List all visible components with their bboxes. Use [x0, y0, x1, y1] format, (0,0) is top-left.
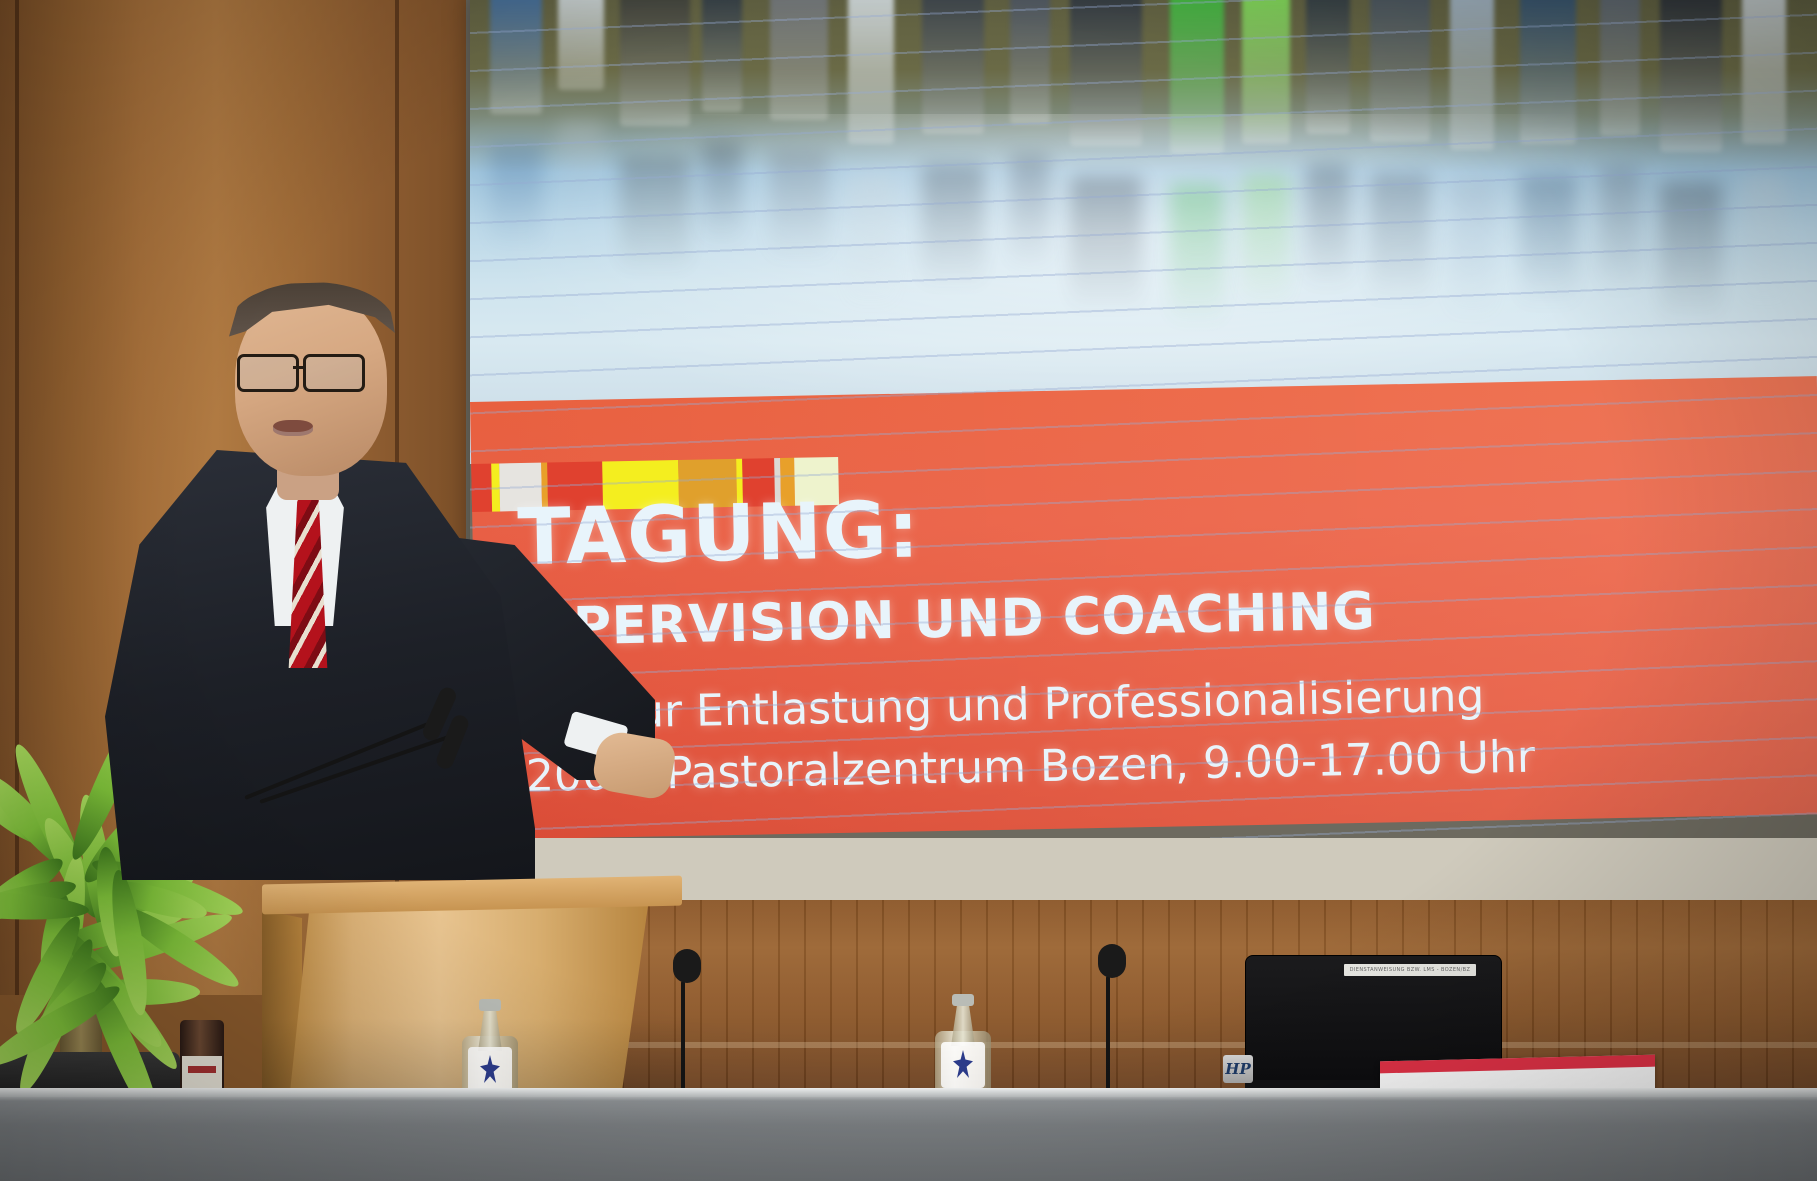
- photo-leg: [558, 0, 604, 90]
- slide-line-1: ge zur Entlastung und Professionalisieru…: [544, 671, 1485, 740]
- lectern-microphone-boom-2: [260, 740, 490, 860]
- photo-leg: [1070, 0, 1142, 146]
- table-gooseneck-microphone: [1090, 950, 1130, 1100]
- bottle-label-mark: [480, 1055, 500, 1083]
- bottle-cap: [479, 999, 501, 1011]
- table-gooseneck-microphone: [665, 955, 705, 1105]
- photo-leg: [702, 0, 742, 112]
- lens-right: [303, 354, 365, 392]
- speaker-mouth: [273, 420, 313, 436]
- photo-leg: [1660, 0, 1722, 152]
- bottle-label: [941, 1042, 985, 1088]
- desk-edge: [0, 1088, 1817, 1097]
- photo-leg: [1520, 0, 1576, 144]
- photo-leg: [490, 0, 542, 114]
- photo-leg: [1170, 0, 1224, 154]
- photo-leg: [620, 0, 690, 126]
- photo-scene: TAGUNG: SUPERVISION UND COACHING ge zur …: [0, 0, 1817, 1181]
- bottle-neck: [951, 1000, 975, 1046]
- laptop-lid-label: DIENSTANWEISUNG BZW. LMS - BOZEN/BZ: [1344, 964, 1476, 976]
- photo-leg: [1742, 0, 1786, 144]
- eyeglasses-icon: [237, 354, 387, 388]
- microphone-capsule: [1098, 944, 1126, 978]
- photo-leg: [1450, 0, 1494, 150]
- photo-leg: [1600, 0, 1640, 136]
- glasses-bridge: [293, 366, 305, 369]
- label-stripe: [188, 1066, 216, 1073]
- photo-leg: [848, 0, 894, 144]
- bottle-label-mark: [953, 1050, 973, 1078]
- photo-leg: [1242, 0, 1290, 144]
- bottle-label: [468, 1047, 512, 1093]
- photo-leg: [1306, 0, 1350, 134]
- bottle-neck: [478, 1005, 502, 1051]
- photo-leg: [1010, 0, 1050, 124]
- bottle-cap: [952, 994, 974, 1006]
- speaker-hand: [590, 729, 677, 802]
- photo-leg: [770, 0, 828, 120]
- lens-left: [237, 354, 299, 392]
- conference-desk: [0, 1088, 1817, 1181]
- photo-leg: [1370, 0, 1430, 142]
- projection-screen: TAGUNG: SUPERVISION UND COACHING ge zur …: [470, 0, 1817, 840]
- photo-leg: [922, 0, 984, 134]
- small-bottle-label: [182, 1056, 222, 1090]
- microphone-capsule: [673, 949, 701, 983]
- hp-logo-icon: HP: [1223, 1055, 1253, 1083]
